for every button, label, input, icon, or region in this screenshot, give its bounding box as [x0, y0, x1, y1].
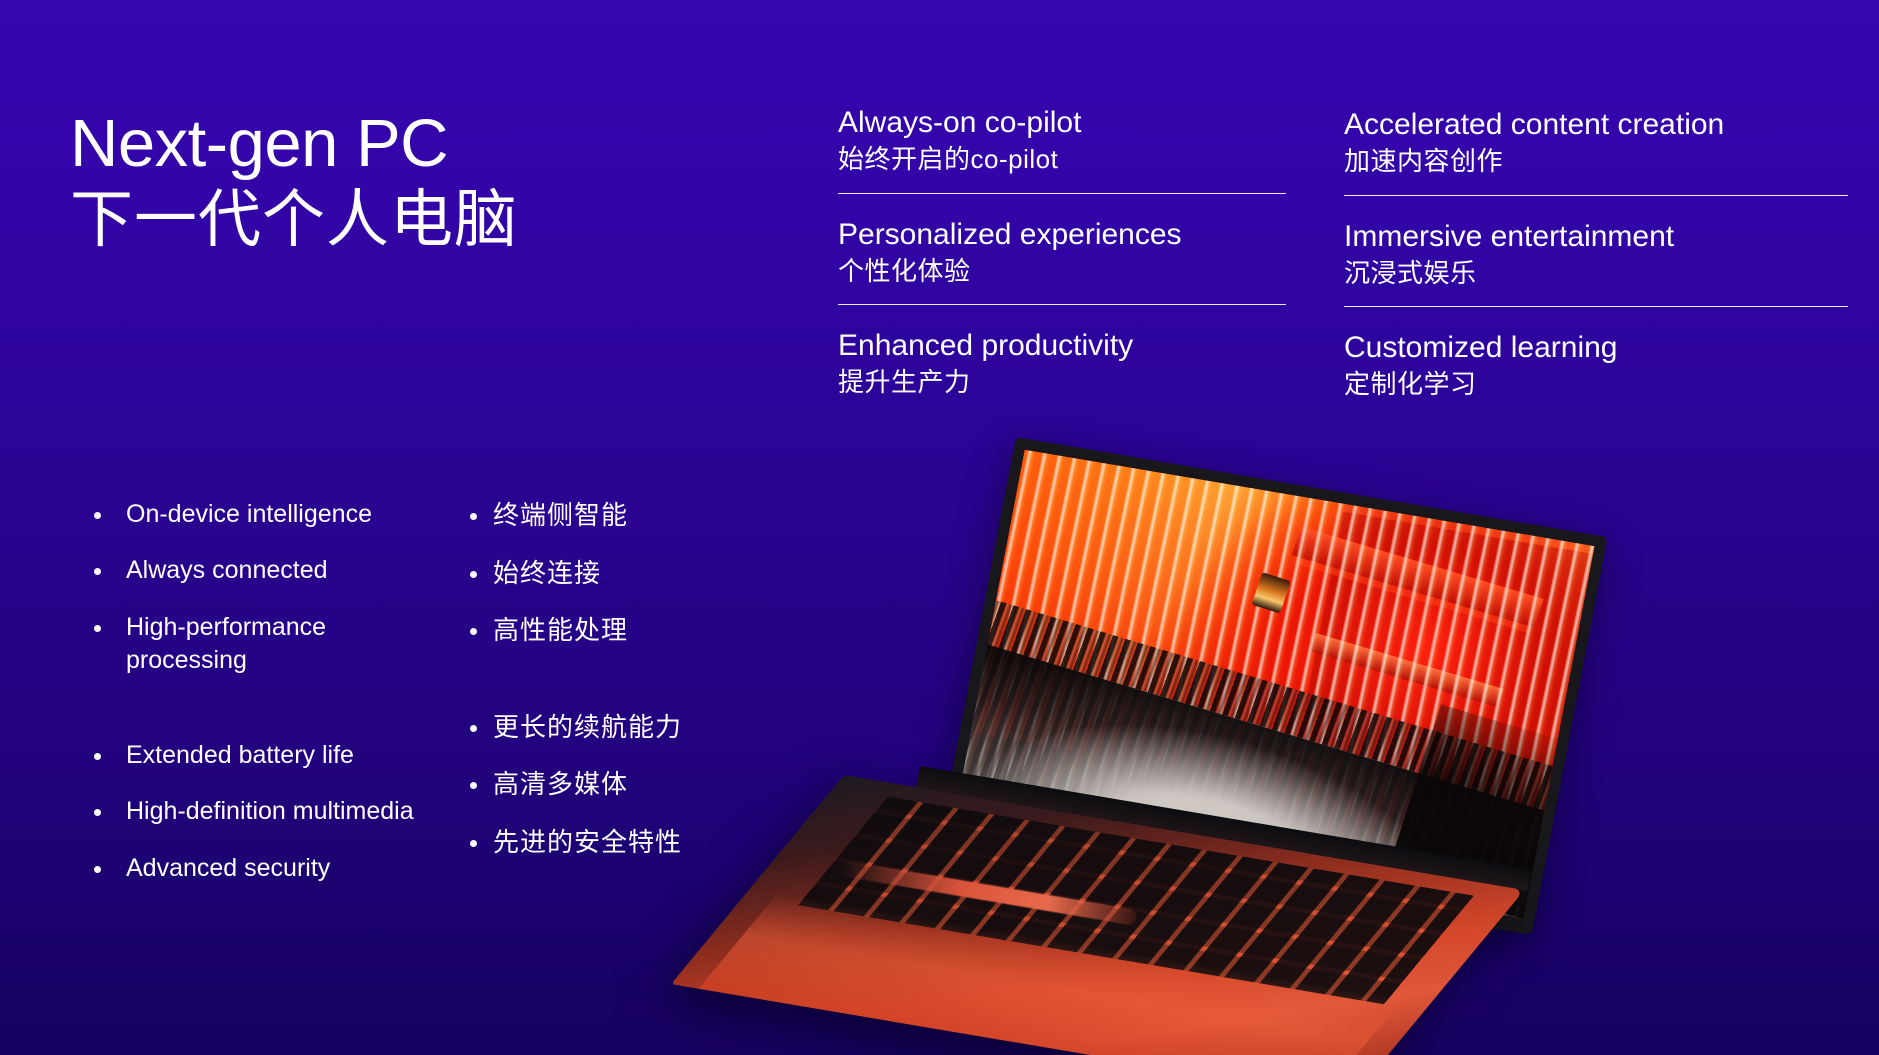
list-item-label: 终端侧智能 [493, 498, 628, 533]
list-item: 高性能处理 [470, 613, 740, 648]
list-item-label: 始终连接 [493, 556, 601, 591]
page-title-english: Next-gen PC [70, 108, 770, 179]
bullet-dot-icon [94, 866, 101, 873]
laptop-product-image [862, 430, 1602, 1055]
feature-label-english: Always-on co-pilot [838, 104, 1286, 142]
bullet-dot-icon [470, 513, 477, 520]
feature-label-chinese: 个性化体验 [838, 254, 1286, 289]
list-item-label: 高性能处理 [493, 613, 628, 648]
bullet-dot-icon [470, 628, 477, 635]
bullet-dot-icon [470, 571, 477, 578]
feature-label-chinese: 提升生产力 [838, 365, 1286, 400]
bullet-list-chinese: 终端侧智能 始终连接 高性能处理 更长的续航能力 高清多媒体 先进的安全特性 [470, 498, 740, 908]
list-item-label: High-performance processing [126, 611, 426, 678]
feature-label-english: Personalized experiences [838, 216, 1286, 254]
feature-item-personalized-experiences: Personalized experiences 个性化体验 [838, 216, 1286, 306]
feature-label-chinese: 定制化学习 [1344, 367, 1848, 402]
list-item: Advanced security [80, 852, 470, 885]
bullet-dot-icon [94, 809, 101, 816]
bullet-dot-icon [470, 840, 477, 847]
list-item: On-device intelligence [80, 498, 470, 531]
feature-item-customized-learning: Customized learning 定制化学习 [1344, 329, 1848, 418]
list-item-label: 更长的续航能力 [493, 710, 682, 745]
bullet-dot-icon [94, 568, 101, 575]
feature-label-english: Accelerated content creation [1344, 106, 1848, 144]
feature-item-immersive-entertainment: Immersive entertainment 沉浸式娱乐 [1344, 218, 1848, 308]
feature-label-chinese: 加速内容创作 [1344, 144, 1848, 179]
feature-label-chinese: 沉浸式娱乐 [1344, 256, 1848, 291]
list-item: 终端侧智能 [470, 498, 740, 533]
page-title-chinese: 下一代个人电脑 [70, 179, 770, 262]
bullet-dot-icon [470, 725, 477, 732]
feature-label-chinese: 始终开启的co-pilot [838, 142, 1286, 177]
list-item: 高清多媒体 [470, 767, 740, 802]
page-title: Next-gen PC 下一代个人电脑 [70, 108, 770, 262]
list-item-label: Always connected [126, 554, 328, 587]
list-item-label: On-device intelligence [126, 498, 372, 531]
feature-column-right: Accelerated content creation 加速内容创作 Imme… [1344, 104, 1848, 418]
list-item-label: Advanced security [126, 852, 330, 885]
list-item: Extended battery life [80, 739, 470, 772]
slide-canvas: Next-gen PC 下一代个人电脑 Always-on co-pilot 始… [0, 0, 1879, 1055]
feature-column-left: Always-on co-pilot 始终开启的co-pilot Persona… [838, 104, 1286, 418]
bullet-dot-icon [470, 782, 477, 789]
list-item: High-definition multimedia [80, 795, 470, 828]
bullet-lists: On-device intelligence Always connected … [80, 498, 740, 908]
bullet-dot-icon [94, 753, 101, 760]
feature-grid: Always-on co-pilot 始终开启的co-pilot Persona… [838, 104, 1848, 418]
list-item: 先进的安全特性 [470, 825, 740, 860]
list-item: 始终连接 [470, 556, 740, 591]
feature-label-english: Immersive entertainment [1344, 218, 1848, 256]
feature-label-english: Customized learning [1344, 329, 1848, 367]
feature-item-always-on-co-pilot: Always-on co-pilot 始终开启的co-pilot [838, 104, 1286, 194]
list-item: 更长的续航能力 [470, 710, 740, 745]
bullet-dot-icon [94, 512, 101, 519]
bullet-dot-icon [94, 625, 101, 632]
feature-label-english: Enhanced productivity [838, 327, 1286, 365]
list-item-label: 先进的安全特性 [493, 825, 682, 860]
feature-item-accelerated-content-creation: Accelerated content creation 加速内容创作 [1344, 106, 1848, 196]
list-item-label: Extended battery life [126, 739, 354, 772]
list-item: High-performance processing [80, 611, 470, 678]
list-item: Always connected [80, 554, 470, 587]
bullet-list-english: On-device intelligence Always connected … [80, 498, 470, 908]
list-item-label: High-definition multimedia [126, 795, 414, 828]
feature-item-enhanced-productivity: Enhanced productivity 提升生产力 [838, 327, 1286, 416]
list-item-label: 高清多媒体 [493, 767, 628, 802]
